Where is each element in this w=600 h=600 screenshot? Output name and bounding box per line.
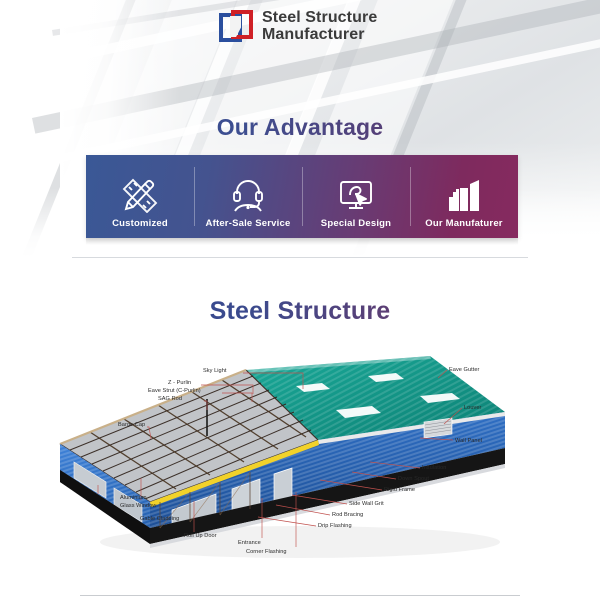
diagram-label-glass-window: Glass Window bbox=[120, 502, 156, 510]
diagram-label-rigid-frame: Rigid Frame bbox=[384, 486, 415, 494]
advantage-bar: Customized After-Sale Service bbox=[86, 155, 518, 238]
diagram-label-gable-cladding: Gable Cladding bbox=[140, 515, 179, 523]
diagram-label-louver: Louver bbox=[464, 404, 481, 412]
brand-logo[interactable]: Steel Structure Manufacturer bbox=[219, 10, 377, 44]
monitor-cursor-icon bbox=[337, 176, 375, 214]
advantage-label: Our Manufaturer bbox=[425, 218, 502, 229]
double-square-frame-logo-icon bbox=[219, 10, 253, 44]
poster-page: Steel Structure Manufacturer Our Advanta… bbox=[0, 0, 600, 600]
diagram-label-insulation: Insulation bbox=[422, 464, 446, 472]
diagram-label-corner-flashing: Corner Flashing bbox=[246, 548, 287, 556]
section-divider-top bbox=[72, 257, 528, 258]
advantage-label: Special Design bbox=[321, 218, 391, 229]
diagram-label-drip-flashing: Drip Flashing bbox=[318, 522, 352, 530]
diagram-label-entrance: Entrance bbox=[238, 539, 261, 547]
diagram-label-sky-light: Sky Light bbox=[203, 367, 226, 375]
diagram-label-side-wall-grit: Side Wall Grit bbox=[349, 500, 384, 508]
diagram-label-roll-up-door: Roll Up Door bbox=[184, 532, 217, 540]
logo-text-line1: Steel Structure bbox=[262, 10, 377, 27]
diagram-label-barge-cap: Barge Cap bbox=[118, 421, 145, 429]
logo-text-line2: Manufacturer bbox=[262, 27, 377, 44]
advantage-label: Customized bbox=[112, 218, 168, 229]
diagram-label-wall-panel: Wall Panel bbox=[455, 437, 482, 445]
warehouse-cutaway-illustration bbox=[0, 352, 600, 567]
diagram-label-down-spout: Down Spout bbox=[398, 475, 429, 483]
section-title: Steel Structure bbox=[0, 297, 600, 326]
advantage-item-customized[interactable]: Customized bbox=[86, 155, 194, 238]
diagram-label-eave-gutter: Eave Gutter bbox=[449, 366, 479, 374]
advantage-item-after-sale-service[interactable]: After-Sale Service bbox=[194, 155, 302, 238]
headset-support-icon bbox=[229, 176, 267, 214]
advantage-item-our-manufaturer[interactable]: Our Manufaturer bbox=[410, 155, 518, 238]
buildings-icon bbox=[445, 176, 483, 214]
ruler-pencil-icon bbox=[121, 176, 159, 214]
advantage-heading: Our Advantage bbox=[0, 114, 600, 141]
diagram-label-sag-rod: SAG Rod bbox=[158, 395, 182, 403]
diagram-label-rod-bracing: Rod Bracing bbox=[332, 511, 363, 519]
advantage-label: After-Sale Service bbox=[206, 218, 291, 229]
advantage-bar-shadow bbox=[86, 238, 518, 245]
steel-structure-diagram: Sky Light Z - Purlin Eave Strut (C-Purli… bbox=[0, 352, 600, 567]
advantage-item-special-design[interactable]: Special Design bbox=[302, 155, 410, 238]
section-divider-bottom bbox=[80, 595, 520, 596]
